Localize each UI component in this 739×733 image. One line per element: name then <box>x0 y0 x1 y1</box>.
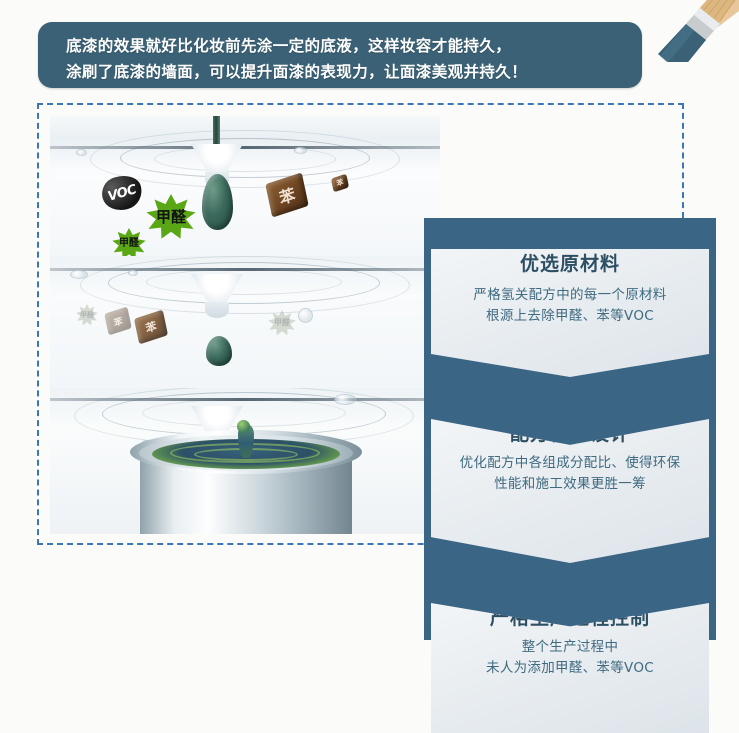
header-line-1: 底漆的效果就好比化妆前先涂一定的底液，这样妆容才能持久， <box>66 34 511 56</box>
panel-title-3: 严格生产过程控制 <box>431 603 709 630</box>
header-line-2: 涂刷了底漆的墙面，可以提升面漆的表现力，让面漆美观并持久！ <box>66 60 527 82</box>
paint-brush-icon <box>618 0 739 62</box>
pollutant-faded-3: 苯 <box>104 307 132 336</box>
feature-panel-formula-design[interactable]: 配方优化设计 优化配方中各组成分配比、使得环保 性能和施工效果更胜一筹 <box>431 419 709 563</box>
feature-panel-production-control[interactable]: 严格生产过程控制 整个生产过程中 未人为添加甲醛、苯等VOC <box>431 603 709 733</box>
feature-panel-stack: 优选原材料 严格氢关配方中的每一个原材料 根源上去除甲醛、苯等VOC 配方优化设… <box>424 218 716 640</box>
panel-title-2: 配方优化设计 <box>431 419 709 446</box>
pollutant-formaldehyde-2: 甲醛 <box>112 228 146 256</box>
header-banner: 底漆的效果就好比化妆前先涂一定的底液，这样妆容才能持久， 涂刷了底漆的墙面，可以… <box>38 22 642 88</box>
pollutant-formaldehyde-1: 甲醛 <box>146 194 196 240</box>
panel-body-3-line-1: 整个生产过程中 <box>431 637 709 658</box>
pollutant-voc-label: VOC <box>106 182 138 204</box>
pollutant-faded-2: 甲醛 <box>268 310 296 336</box>
water-droplet-photo: VOC 甲醛 甲醛 苯 苯 甲醛 <box>50 116 440 534</box>
panel-body-1-line-2: 根源上去除甲醛、苯等VOC <box>431 306 709 327</box>
water-band-bottom <box>50 388 440 534</box>
paint-can <box>130 420 362 534</box>
panel-body-3-line-2: 未人为添加甲醛、苯等VOC <box>431 658 709 679</box>
panel-body-2-line-1: 优化配方中各组成分配比、使得环保 <box>431 453 709 474</box>
pollutant-benzene-3: 苯 <box>134 310 168 345</box>
water-band-top: VOC 甲醛 甲醛 苯 苯 <box>50 116 440 256</box>
water-band-middle: 甲醛 甲醛 苯 苯 <box>50 256 440 388</box>
panel-body-1-line-1: 严格氢关配方中的每一个原材料 <box>431 285 709 306</box>
panel-body-2-line-2: 性能和施工效果更胜一筹 <box>431 474 709 495</box>
pollutant-faded-1: 甲醛 <box>76 304 98 326</box>
dashed-content-frame: VOC 甲醛 甲醛 苯 苯 甲醛 <box>37 103 684 545</box>
panel-title-1: 优选原材料 <box>431 249 709 276</box>
feature-panel-raw-materials[interactable]: 优选原材料 严格氢关配方中的每一个原材料 根源上去除甲醛、苯等VOC <box>431 249 709 377</box>
pollutant-benzene-2: 苯 <box>331 174 349 193</box>
